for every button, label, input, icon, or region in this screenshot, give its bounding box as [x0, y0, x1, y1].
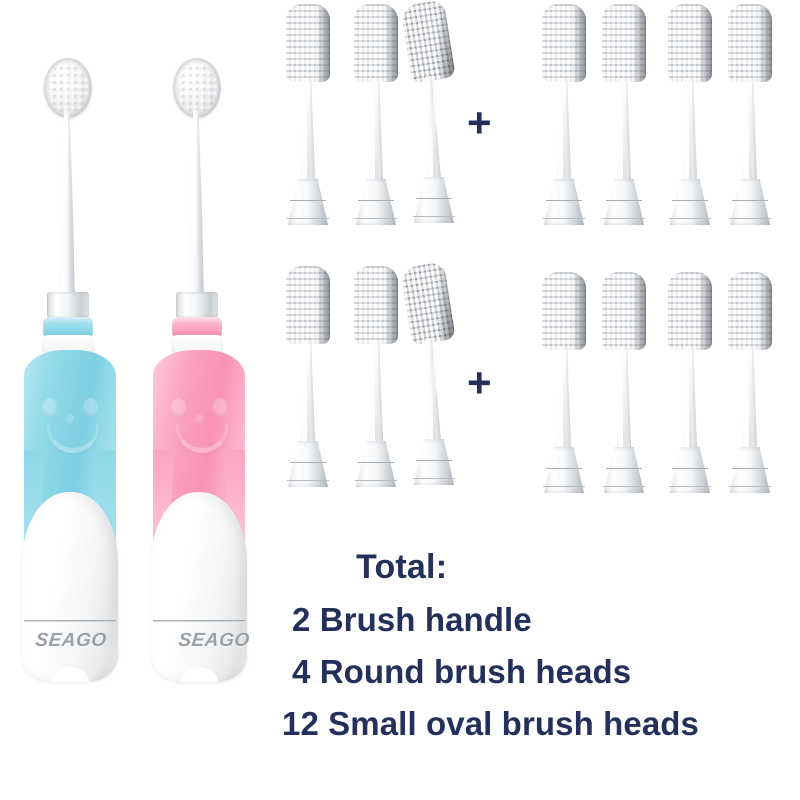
bristle-block: [602, 272, 646, 350]
seago-logo: SEAGO: [150, 630, 278, 652]
round-brush-head-icon: [44, 58, 92, 118]
brush-stem-highlight: [623, 350, 626, 448]
seago-logo: SEAGO: [7, 630, 135, 652]
bristle-block: [602, 4, 646, 82]
bristle-block: [400, 262, 456, 346]
brush-base-ring: [358, 200, 394, 201]
bristle-block: [668, 272, 712, 350]
face-mouth: [176, 424, 228, 453]
brush-base-ring-lower: [355, 218, 397, 219]
face-eye-left: [42, 398, 57, 417]
brush-base-ring-lower: [729, 218, 771, 219]
brush-base-ring: [358, 462, 394, 463]
bristle-block: [354, 4, 398, 82]
total-line-brush-handle: 2 Brush handle: [292, 601, 792, 639]
brush-clear-collar: [47, 292, 89, 318]
oval-brush-head[interactable]: [720, 4, 780, 244]
brush-stem-highlight: [433, 342, 436, 440]
brush-base-ring-lower: [603, 218, 645, 219]
oval-brush-head[interactable]: [534, 4, 594, 244]
pink-toothbrush-handle[interactable]: SEAGO: [137, 52, 267, 682]
face-eye-left: [171, 398, 186, 417]
oval-brush-head[interactable]: [404, 2, 464, 242]
brush-stem-highlight: [689, 350, 692, 448]
brush-base-ring-lower: [413, 216, 455, 217]
bristle-block: [354, 266, 398, 344]
brush-stem: [419, 338, 444, 443]
brush-base-ring-lower: [603, 486, 645, 487]
total-line-oval-heads: 12 Small oval brush heads: [282, 705, 792, 743]
brush-stem-highlight: [375, 82, 378, 180]
brush-base-ring: [672, 468, 708, 469]
brush-base-ring: [546, 468, 582, 469]
total-summary: Total: 2 Brush handle 4 Round brush head…: [282, 548, 792, 757]
oval-brush-head[interactable]: [534, 272, 594, 512]
bristle-block: [286, 266, 330, 344]
brush-stem-highlight: [307, 82, 310, 180]
smiley-face-icon: [38, 384, 102, 466]
brush-base-ring-lower: [355, 480, 397, 481]
bristle-block: [542, 4, 586, 82]
oval-brush-head[interactable]: [594, 272, 654, 512]
face-eye-right: [212, 398, 227, 417]
bristle-block: [286, 4, 330, 82]
brush-base-ring: [672, 200, 708, 201]
oval-brush-head[interactable]: [594, 4, 654, 244]
brush-base-ring: [732, 200, 768, 201]
oval-brush-head[interactable]: [660, 272, 720, 512]
total-line-round-heads: 4 Round brush heads: [292, 653, 792, 691]
oval-brush-head[interactable]: [404, 264, 464, 504]
brush-base-ring: [546, 200, 582, 201]
handle-seam-line: [24, 620, 116, 622]
plus-operator-top: +: [467, 102, 492, 144]
handle-bottom-notch: [53, 669, 87, 682]
plus-operator-bottom: +: [467, 362, 492, 404]
bristle-block: [728, 4, 772, 82]
brush-base-ring: [290, 462, 326, 463]
brush-base-ring: [290, 200, 326, 201]
brush-stem: [419, 76, 444, 181]
face-nose: [195, 414, 203, 423]
brush-stem-highlight: [563, 350, 566, 448]
smiley-face-icon: [167, 384, 231, 466]
total-title: Total:: [356, 548, 792, 587]
brush-base-ring-lower: [413, 478, 455, 479]
brush-neck-highlight: [64, 114, 68, 300]
face-mouth: [47, 424, 99, 453]
brush-base-ring-lower: [287, 218, 329, 219]
handle-seam-line: [153, 620, 245, 622]
brush-clear-collar: [176, 292, 218, 318]
product-image-canvas: SEAGO SEAGO: [0, 0, 800, 800]
brush-stem-highlight: [375, 344, 378, 442]
handle-bottom-notch: [182, 669, 216, 682]
brush-base-ring: [606, 468, 642, 469]
oval-brush-head[interactable]: [720, 272, 780, 512]
brush-stem-highlight: [433, 80, 436, 178]
oval-brush-head[interactable]: [660, 4, 720, 244]
oval-brush-head[interactable]: [346, 266, 406, 506]
brush-base-ring-lower: [543, 486, 585, 487]
oval-brush-head[interactable]: [346, 4, 406, 244]
brush-base-ring: [416, 460, 452, 461]
face-nose: [66, 414, 74, 423]
handle-white-body: [22, 492, 118, 682]
brush-base-ring: [732, 468, 768, 469]
oval-brush-head[interactable]: [278, 4, 338, 244]
brush-stem-highlight: [623, 82, 626, 180]
handle-white-body: [151, 492, 247, 682]
brush-base-ring-lower: [287, 480, 329, 481]
brush-stem-highlight: [749, 350, 752, 448]
face-eye-right: [83, 398, 98, 417]
blue-toothbrush-handle[interactable]: SEAGO: [8, 52, 138, 682]
bristle-block: [728, 272, 772, 350]
brush-base-ring: [416, 198, 452, 199]
brush-base-ring-lower: [669, 486, 711, 487]
bristle-block: [542, 272, 586, 350]
brush-base-ring-lower: [543, 218, 585, 219]
brush-base-ring: [606, 200, 642, 201]
bristle-block: [668, 4, 712, 82]
brush-neck-highlight: [193, 114, 197, 300]
brush-stem-highlight: [689, 82, 692, 180]
brush-stem-highlight: [749, 82, 752, 180]
bristle-block: [400, 0, 456, 83]
round-brush-head-icon: [173, 58, 221, 118]
brush-stem-highlight: [307, 344, 310, 442]
brush-base-ring-lower: [729, 486, 771, 487]
brush-base-ring-lower: [669, 218, 711, 219]
brush-stem-highlight: [563, 82, 566, 180]
oval-brush-head[interactable]: [278, 266, 338, 506]
